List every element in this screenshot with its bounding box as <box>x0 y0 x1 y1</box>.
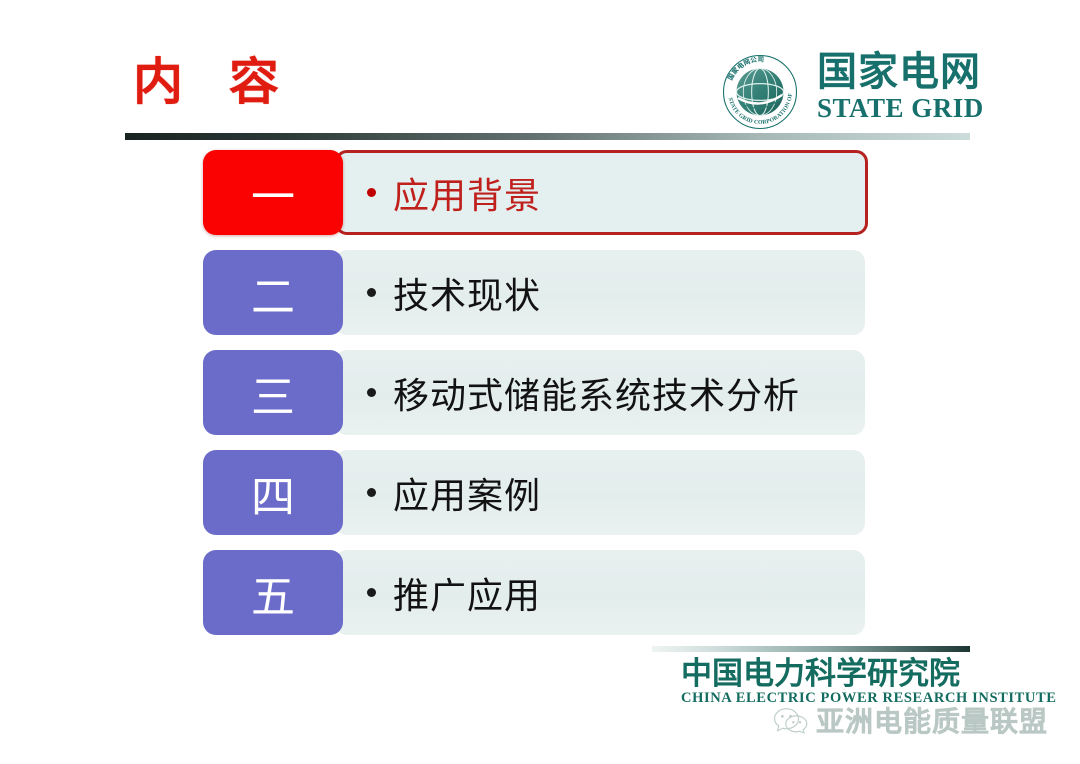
state-grid-logo: 国家电网公司 STATE GRID CORPORATION OF CHINA 国… <box>722 52 972 130</box>
agenda-content-bar-3[interactable]: 移动式储能系统技术分析 <box>335 350 865 435</box>
bullet-icon <box>367 188 376 197</box>
presentation-slide: 内 容 国家电网公司 STATE <box>0 0 1080 764</box>
agenda-content-bar-1[interactable]: 应用背景 <box>335 150 868 235</box>
agenda-label-2: 技术现状 <box>393 267 541 319</box>
bullet-icon <box>367 488 376 497</box>
agenda-label-1: 应用背景 <box>393 167 541 219</box>
state-grid-name-en: STATE GRID <box>817 95 972 122</box>
agenda-item-5[interactable]: 五 推广应用 <box>203 550 883 635</box>
agenda-content-bar-5[interactable]: 推广应用 <box>335 550 865 635</box>
agenda-number-1: 一 <box>203 150 343 235</box>
agenda-number-3: 三 <box>203 350 343 435</box>
state-grid-globe-emblem: 国家电网公司 STATE GRID CORPORATION OF CHINA <box>722 54 798 130</box>
bullet-icon <box>367 288 376 297</box>
agenda-item-2[interactable]: 二 技术现状 <box>203 250 883 335</box>
agenda-content-bar-2[interactable]: 技术现状 <box>335 250 865 335</box>
watermark-label: 亚洲电能质量联盟 <box>816 700 1048 740</box>
watermark: 亚洲电能质量联盟 <box>773 700 1048 740</box>
agenda-item-3[interactable]: 三 移动式储能系统技术分析 <box>203 350 883 435</box>
state-grid-wordmark: 国家电网 STATE GRID <box>817 52 972 122</box>
wechat-icon <box>773 706 809 734</box>
page-title: 内 容 <box>133 57 295 107</box>
agenda-list: 一 应用背景 二 技术现状 三 移动式储能系统技术分析 四 应用 <box>203 150 883 650</box>
agenda-item-4[interactable]: 四 应用案例 <box>203 450 883 535</box>
agenda-item-1[interactable]: 一 应用背景 <box>203 150 883 235</box>
footer-divider <box>652 646 970 652</box>
state-grid-name-cn: 国家电网 <box>817 52 972 92</box>
agenda-label-4: 应用案例 <box>393 467 541 519</box>
cepri-logo: 中国电力科学研究院 CHINA ELECTRIC POWER RESEARCH … <box>681 658 1057 706</box>
agenda-label-5: 推广应用 <box>393 567 541 619</box>
bullet-icon <box>367 588 376 597</box>
agenda-number-5: 五 <box>203 550 343 635</box>
agenda-number-2: 二 <box>203 250 343 335</box>
header-divider <box>125 133 970 140</box>
cepri-name-cn: 中国电力科学研究院 <box>681 658 1057 689</box>
agenda-content-bar-4[interactable]: 应用案例 <box>335 450 865 535</box>
agenda-number-4: 四 <box>203 450 343 535</box>
agenda-label-3: 移动式储能系统技术分析 <box>393 367 800 419</box>
bullet-icon <box>367 388 376 397</box>
